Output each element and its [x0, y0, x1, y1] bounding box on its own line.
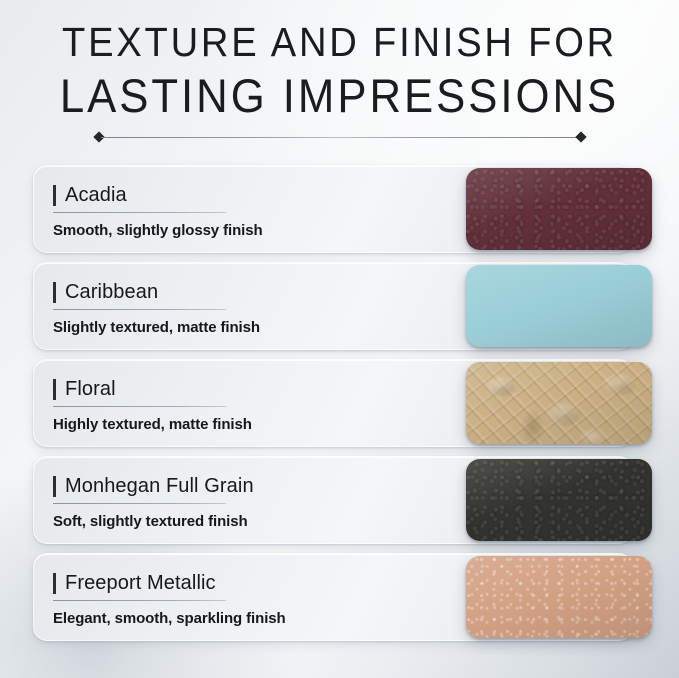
- swatch-card-body: Floral Highly textured, matte finish: [53, 376, 482, 433]
- swatch-name-row: Acadia: [53, 182, 482, 208]
- infographic-poster: TEXTURE AND FINISH FOR LASTING IMPRESSIO…: [0, 0, 679, 678]
- accent-bar-icon: [53, 379, 56, 400]
- list-item: Acadia Smooth, slightly glossy finish: [0, 165, 679, 253]
- swatch-name: Monhegan Full Grain: [65, 475, 254, 498]
- color-swatch: [466, 168, 652, 250]
- swatch-name-underline: [53, 600, 226, 601]
- metallic-sparkle-texture: [466, 556, 652, 638]
- title-line-1: TEXTURE AND FINISH FOR: [24, 22, 655, 63]
- accent-bar-icon: [53, 476, 56, 497]
- header-divider: [95, 131, 585, 143]
- accent-bar-icon: [53, 185, 56, 206]
- swatch-description: Elegant, smooth, sparkling finish: [53, 610, 482, 627]
- swatch-card-body: Monhegan Full Grain Soft, slightly textu…: [53, 473, 482, 530]
- swatch-name-underline: [53, 309, 226, 310]
- list-item: Freeport Metallic Elegant, smooth, spark…: [0, 553, 679, 641]
- color-swatch: [466, 459, 652, 541]
- color-swatch: [466, 362, 652, 444]
- swatch-name-underline: [53, 212, 226, 213]
- swatch-name-row: Freeport Metallic: [53, 570, 482, 596]
- swatch-name-underline: [53, 503, 226, 504]
- swatch-name-row: Caribbean: [53, 279, 482, 305]
- floral-embossed-texture: [466, 362, 652, 444]
- swatch-name-row: Monhegan Full Grain: [53, 473, 482, 499]
- swatch-description: Highly textured, matte finish: [53, 416, 482, 433]
- swatch-description: Slightly textured, matte finish: [53, 319, 482, 336]
- color-swatch: [466, 556, 652, 638]
- swatch-name: Floral: [65, 378, 116, 401]
- swatch-name-underline: [53, 406, 226, 407]
- list-item: Monhegan Full Grain Soft, slightly textu…: [0, 456, 679, 544]
- swatch-description: Smooth, slightly glossy finish: [53, 222, 482, 239]
- title-line-2: LASTING IMPRESSIONS: [24, 72, 655, 119]
- swatch-card-body: Freeport Metallic Elegant, smooth, spark…: [53, 570, 482, 627]
- list-item: Floral Highly textured, matte finish: [0, 359, 679, 447]
- swatch-name: Caribbean: [65, 281, 158, 304]
- swatch-name: Freeport Metallic: [65, 572, 216, 595]
- swatch-name-row: Floral: [53, 376, 482, 402]
- accent-bar-icon: [53, 573, 56, 594]
- poster-header: TEXTURE AND FINISH FOR LASTING IMPRESSIO…: [0, 22, 679, 119]
- list-item: Caribbean Slightly textured, matte finis…: [0, 262, 679, 350]
- swatch-name: Acadia: [65, 184, 127, 207]
- swatch-card-body: Acadia Smooth, slightly glossy finish: [53, 182, 482, 239]
- accent-bar-icon: [53, 282, 56, 303]
- leather-grain-texture: [466, 459, 652, 541]
- leather-grain-texture: [466, 168, 652, 250]
- diamond-right-icon: [575, 131, 586, 142]
- swatch-description: Soft, slightly textured finish: [53, 513, 482, 530]
- divider-line: [101, 137, 579, 138]
- color-swatch: [466, 265, 652, 347]
- swatch-list: Acadia Smooth, slightly glossy finish Ca…: [0, 165, 679, 650]
- swatch-card-body: Caribbean Slightly textured, matte finis…: [53, 279, 482, 336]
